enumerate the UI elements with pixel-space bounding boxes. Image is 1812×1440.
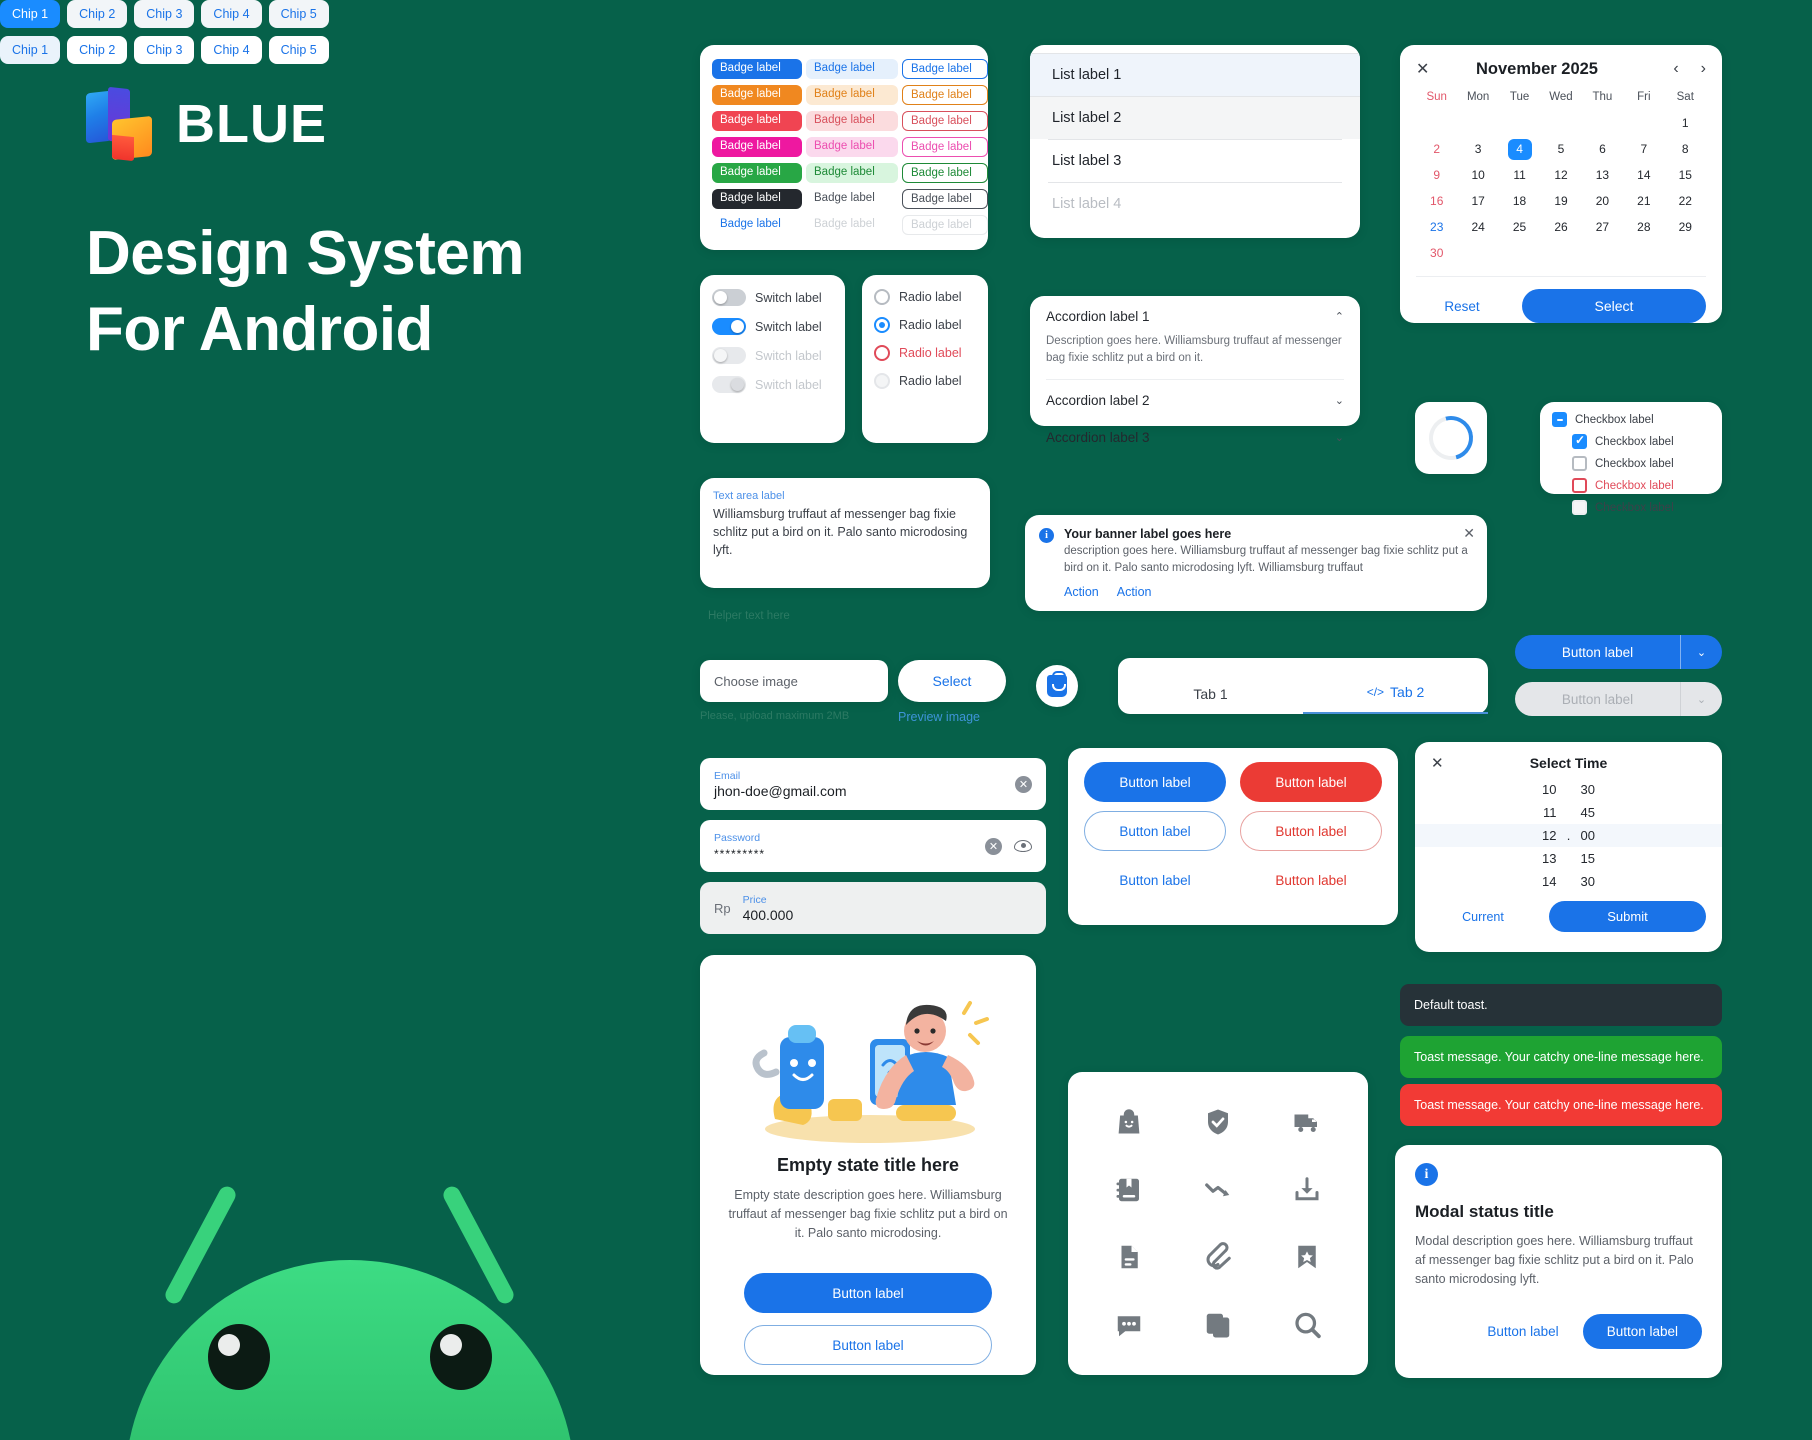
calendar-day[interactable]: 8	[1665, 139, 1706, 160]
accordion-label: Accordion label 3	[1046, 430, 1150, 445]
calendar-day[interactable]: 13	[1582, 165, 1623, 186]
close-icon[interactable]: ✕	[1431, 754, 1455, 772]
chip-row-1: Chip 1Chip 2Chip 3Chip 4Chip 5	[0, 0, 330, 28]
modal-primary-button[interactable]: Button label	[1583, 1314, 1702, 1349]
split-button-label[interactable]: Button label	[1515, 635, 1680, 669]
textarea-helper-text: Helper text here	[708, 610, 790, 622]
calendar-day[interactable]: 12	[1540, 165, 1581, 186]
banner-action-1[interactable]: Action	[1064, 585, 1099, 599]
calendar-select-button[interactable]: Select	[1522, 289, 1706, 323]
time-picker-title: Select Time	[1455, 755, 1682, 771]
calendar-day[interactable]: 23	[1416, 217, 1457, 238]
calendar-blank	[1582, 113, 1623, 134]
button-fill-blue[interactable]: Button label	[1084, 762, 1226, 802]
chip[interactable]: Chip 4	[201, 0, 261, 28]
calendar-day[interactable]: 7	[1623, 139, 1664, 160]
radio-label: Radio label	[899, 290, 962, 304]
time-separator: .	[1565, 828, 1573, 843]
switch-label: Switch label	[755, 291, 822, 305]
toast-success: Toast message. Your catchy one-line mess…	[1400, 1036, 1722, 1078]
calendar-day[interactable]: 19	[1540, 191, 1581, 212]
time-hour: 12	[1531, 828, 1557, 843]
chevron-down-icon[interactable]: ⌄	[1335, 394, 1344, 407]
checkbox-label: Checkbox label	[1595, 480, 1674, 492]
banner-description: description goes here. Williamsburg truf…	[1064, 543, 1473, 576]
close-icon[interactable]: ✕	[1463, 525, 1475, 542]
clear-icon[interactable]: ✕	[985, 838, 1002, 855]
calendar-title: November 2025	[1436, 60, 1638, 79]
password-label: Password	[714, 832, 977, 844]
calendar-header: ✕ November 2025 ‹ ›	[1416, 59, 1706, 79]
badge-outline: Badge label	[902, 59, 988, 79]
switch-toggle[interactable]	[712, 318, 746, 335]
tab-1[interactable]: Tab 1	[1118, 686, 1303, 714]
price-value: 400.000	[743, 907, 1032, 923]
icon-grid	[1084, 1088, 1352, 1359]
accordion-header[interactable]: Accordion label 3⌄	[1046, 417, 1344, 454]
calendar-day[interactable]: 14	[1623, 165, 1664, 186]
badge-tint: Badge label	[806, 215, 898, 235]
logo-wordmark: BLUE	[176, 93, 327, 155]
radio-label: Radio label	[899, 374, 962, 388]
paperclip-icon	[1196, 1235, 1240, 1279]
calendar-footer: Reset Select	[1416, 276, 1706, 323]
checkbox-row: Checkbox label	[1572, 500, 1710, 515]
switch-toggle	[712, 347, 746, 364]
time-picker-wheel[interactable]: 1030114512.0013151430	[1431, 778, 1706, 893]
empty-state-description: Empty state description goes here. Willi…	[720, 1186, 1016, 1243]
empty-secondary-button[interactable]: Button label	[744, 1325, 992, 1365]
calendar-day[interactable]: 25	[1499, 217, 1540, 238]
toast-message: Default toast.	[1414, 998, 1488, 1012]
checkbox-label: Checkbox label	[1595, 436, 1674, 448]
password-field[interactable]: Password ********* ✕	[700, 820, 1046, 872]
badge-solid: Badge label	[712, 137, 802, 157]
time-row[interactable]: 1030	[1431, 778, 1706, 801]
blue-logo-icon	[86, 88, 154, 160]
shield-check-icon	[1196, 1100, 1240, 1144]
time-current-button[interactable]: Current	[1431, 910, 1535, 924]
badge-solid: Badge label	[712, 215, 802, 235]
calendar-day[interactable]: 27	[1582, 217, 1623, 238]
modal-status-card: i Modal status title Modal description g…	[1395, 1145, 1722, 1378]
accordion-label: Accordion label 1	[1046, 309, 1150, 324]
switches-card: Switch labelSwitch labelSwitch labelSwit…	[700, 275, 845, 443]
chevron-right-icon[interactable]: ›	[1701, 60, 1706, 78]
tab-2[interactable]: </> Tab 2	[1303, 684, 1488, 714]
radio-row[interactable]: Radio label	[874, 345, 976, 361]
empty-state-illustration	[720, 979, 1016, 1149]
chevron-down-icon: ⌄	[1680, 682, 1722, 716]
file-picker-helper: Please, upload maximum 2MB	[700, 710, 849, 722]
file-select-button[interactable]: Select	[898, 660, 1006, 702]
list-item[interactable]: List label 1	[1030, 53, 1360, 96]
badge-solid: Badge label	[712, 111, 802, 131]
switch-label: Switch label	[755, 320, 822, 334]
switch-row[interactable]: Switch label	[712, 289, 833, 306]
checkbox-row[interactable]: Checkbox label	[1572, 478, 1710, 493]
calendar-day[interactable]: 24	[1457, 217, 1498, 238]
badge-tint: Badge label	[806, 189, 898, 209]
button-outline-red[interactable]: Button label	[1240, 811, 1382, 851]
spinner-icon	[1421, 408, 1481, 468]
toast-error: Toast message. Your catchy one-line mess…	[1400, 1084, 1722, 1126]
split-button-disabled: Button label ⌄	[1515, 682, 1722, 716]
checkbox-box	[1572, 500, 1587, 515]
accordion-label: Accordion label 2	[1046, 393, 1150, 408]
radio-row: Radio label	[874, 373, 976, 389]
calendar-day[interactable]: 6	[1582, 139, 1623, 160]
time-hour: 11	[1531, 805, 1557, 820]
switch-toggle	[712, 376, 746, 393]
checkbox-label: Checkbox label	[1575, 414, 1654, 426]
tabs-bar: Tab 1 </> Tab 2	[1118, 658, 1488, 714]
chip[interactable]: Chip 1	[0, 0, 60, 28]
chip[interactable]: Chip 3	[134, 0, 194, 28]
list-item: List label 4	[1048, 182, 1342, 225]
info-icon: i	[1039, 528, 1054, 543]
title-line-1: Design System	[86, 216, 524, 292]
delivery-truck-icon	[1285, 1100, 1329, 1144]
info-icon: i	[1415, 1163, 1438, 1186]
time-hour: 14	[1531, 874, 1557, 889]
button-fill-red[interactable]: Button label	[1240, 762, 1382, 802]
badges-card: Badge labelBadge labelBadge labelBadge l…	[700, 45, 988, 250]
shopping-bag-smile-icon	[1107, 1100, 1151, 1144]
close-icon[interactable]: ✕	[1416, 59, 1436, 79]
badge-tint: Badge label	[806, 59, 898, 79]
switch-label: Switch label	[755, 378, 822, 392]
design-system-poster: BLUE Design System For Android Badge lab…	[0, 0, 1812, 1440]
calendar-day[interactable]: 15	[1665, 165, 1706, 186]
choose-image-input[interactable]: Choose image	[700, 660, 888, 702]
checkbox-box[interactable]	[1552, 412, 1567, 427]
tab-1-label: Tab 1	[1193, 686, 1227, 702]
calendar-day[interactable]: 29	[1665, 217, 1706, 238]
book-bookmark-icon	[1107, 1168, 1151, 1212]
banner-title: Your banner label goes here	[1064, 527, 1473, 541]
empty-state-card: Empty state title here Empty state descr…	[700, 955, 1036, 1375]
chip[interactable]: Chip 1	[0, 36, 60, 64]
accordion-header[interactable]: Accordion label 1⌃	[1046, 296, 1344, 333]
radio-button[interactable]	[874, 289, 890, 305]
split-button-primary[interactable]: Button label ⌄	[1515, 635, 1722, 669]
radio-button[interactable]	[874, 317, 890, 333]
switch-label: Switch label	[755, 349, 822, 363]
checkbox-row[interactable]: Checkbox label	[1552, 412, 1710, 427]
accordion-header[interactable]: Accordion label 2⌄	[1046, 380, 1344, 417]
time-submit-button[interactable]: Submit	[1549, 901, 1706, 932]
chip[interactable]: Chip 5	[269, 36, 329, 64]
search-icon	[1285, 1303, 1329, 1347]
accordion-description: Description goes here. Williamsburg truf…	[1046, 333, 1344, 380]
calendar-blank	[1416, 113, 1457, 134]
page-title: Design System For Android	[86, 216, 524, 367]
calendar-day[interactable]: 20	[1582, 191, 1623, 212]
badge-tint: Badge label	[806, 111, 898, 131]
calendar-dow: Mon	[1457, 91, 1498, 108]
price-field[interactable]: Rp Price 400.000	[700, 882, 1046, 934]
code-icon: </>	[1367, 685, 1384, 699]
radio-label: Radio label	[899, 346, 962, 360]
eye-icon[interactable]	[1014, 840, 1032, 852]
radio-button	[874, 373, 890, 389]
accordion-card: Accordion label 1⌃Description goes here.…	[1030, 296, 1360, 426]
checkbox-row[interactable]: Checkbox label	[1572, 434, 1710, 449]
logo-row: BLUE	[86, 88, 524, 160]
badge-outline: Badge label	[902, 85, 988, 105]
badge-outline: Badge label	[902, 137, 988, 157]
android-mascot-illustration	[80, 1140, 620, 1440]
radio-row[interactable]: Radio label	[874, 289, 976, 305]
textarea-field[interactable]: Text area label Williamsburg truffaut af…	[700, 478, 990, 588]
calendar-reset-button[interactable]: Reset	[1416, 299, 1508, 314]
empty-state-title: Empty state title here	[720, 1155, 1016, 1176]
price-prefix: Rp	[714, 901, 731, 916]
badge-tint: Badge label	[806, 85, 898, 105]
radio-button[interactable]	[874, 345, 890, 361]
buttons-card: Button labelButton labelButton labelButt…	[1068, 748, 1398, 925]
calendar-day[interactable]: 16	[1416, 191, 1457, 212]
badge-tint: Badge label	[806, 163, 898, 183]
calendar-day[interactable]: 2	[1416, 139, 1457, 160]
trend-down-arrow-icon	[1196, 1168, 1240, 1212]
calendar-day[interactable]: 18	[1499, 191, 1540, 212]
copy-icon	[1196, 1303, 1240, 1347]
banner-card: i Your banner label goes here descriptio…	[1025, 515, 1487, 611]
calendar-day[interactable]: 21	[1623, 191, 1664, 212]
bookmark-star-icon	[1285, 1235, 1329, 1279]
calendar-day[interactable]: 30	[1416, 243, 1457, 264]
calendar-blank	[1499, 113, 1540, 134]
badge-outline: Badge label	[902, 163, 988, 183]
preview-image-link[interactable]: Preview image	[898, 710, 980, 724]
switch-row: Switch label	[712, 376, 833, 393]
price-label: Price	[743, 894, 1032, 906]
list-card: List label 1List label 2List label 3List…	[1030, 45, 1360, 238]
brand-block: BLUE Design System For Android	[86, 88, 524, 367]
time-minute: 45	[1581, 805, 1607, 820]
calendar-day[interactable]: 9	[1416, 165, 1457, 186]
choose-image-placeholder: Choose image	[714, 674, 798, 689]
time-minute: 15	[1581, 851, 1607, 866]
checkbox-label: Checkbox label	[1595, 458, 1674, 470]
toast-message: Toast message. Your catchy one-line mess…	[1414, 1098, 1704, 1112]
calendar-day[interactable]: 1	[1665, 113, 1706, 134]
switch-row: Switch label	[712, 347, 833, 364]
chip[interactable]: Chip 4	[201, 36, 261, 64]
modal-description: Modal description goes here. Williamsbur…	[1415, 1232, 1702, 1288]
checkboxes-card: Checkbox labelCheckbox labelCheckbox lab…	[1540, 402, 1722, 494]
document-text-icon	[1107, 1235, 1151, 1279]
chip-row-2: Chip 1Chip 2Chip 3Chip 4Chip 5	[0, 36, 330, 64]
email-label: Email	[714, 770, 1007, 782]
badge-solid: Badge label	[712, 85, 802, 105]
calendar-dow: Tue	[1499, 91, 1540, 108]
calendar-blank	[1540, 113, 1581, 134]
checkbox-box[interactable]	[1572, 478, 1587, 493]
clear-icon[interactable]: ✕	[1015, 776, 1032, 793]
chevron-down-icon[interactable]: ⌄	[1680, 635, 1722, 669]
chip[interactable]: Chip 5	[269, 0, 329, 28]
time-hour: 13	[1531, 851, 1557, 866]
shopping-bag-icon[interactable]	[1036, 665, 1078, 707]
email-field[interactable]: Email jhon-doe@gmail.com ✕	[700, 758, 1046, 810]
radios-card: Radio labelRadio labelRadio labelRadio l…	[862, 275, 988, 443]
calendar-dow: Wed	[1540, 91, 1581, 108]
button-outline-blue[interactable]: Button label	[1084, 811, 1226, 851]
button-grid: Button labelButton labelButton labelButt…	[1084, 762, 1382, 900]
badge-outline: Badge label	[902, 215, 988, 235]
time-minute: 30	[1581, 874, 1607, 889]
badge-solid: Badge label	[712, 189, 802, 209]
tab-2-label: Tab 2	[1390, 684, 1424, 700]
chip[interactable]: Chip 2	[67, 0, 127, 28]
toast-default: Default toast.	[1400, 984, 1722, 1026]
checkbox-label: Checkbox label	[1595, 502, 1674, 514]
chip[interactable]: Chip 2	[67, 36, 127, 64]
calendar-dow: Thu	[1582, 91, 1623, 108]
download-icon	[1285, 1168, 1329, 1212]
chevron-left-icon[interactable]: ‹	[1673, 60, 1678, 78]
icon-library-card	[1068, 1072, 1368, 1375]
calendar-dow: Fri	[1623, 91, 1664, 108]
date-picker-card: ✕ November 2025 ‹ › SunMonTueWedThuFriSa…	[1400, 45, 1722, 323]
checkbox-row[interactable]: Checkbox label	[1572, 456, 1710, 471]
list-item[interactable]: List label 2	[1030, 96, 1360, 139]
chip[interactable]: Chip 3	[134, 36, 194, 64]
chat-dots-icon	[1107, 1303, 1151, 1347]
calendar-day[interactable]: 5	[1540, 139, 1581, 160]
calendar-blank	[1623, 113, 1664, 134]
calendar-day[interactable]: 3	[1457, 139, 1498, 160]
badge-solid: Badge label	[712, 59, 802, 79]
calendar-blank	[1457, 113, 1498, 134]
badge-outline: Badge label	[902, 111, 988, 131]
time-minute: 30	[1581, 782, 1607, 797]
badge-solid: Badge label	[712, 163, 802, 183]
switch-toggle[interactable]	[712, 289, 746, 306]
calendar-day[interactable]: 11	[1499, 165, 1540, 186]
modal-secondary-button[interactable]: Button label	[1473, 1315, 1572, 1348]
calendar-day[interactable]: 26	[1540, 217, 1581, 238]
calendar-day[interactable]: 10	[1457, 165, 1498, 186]
time-row[interactable]: 1315	[1431, 847, 1706, 870]
badge-grid: Badge labelBadge labelBadge labelBadge l…	[712, 59, 976, 235]
textarea-label: Text area label	[713, 490, 977, 502]
time-row[interactable]: 1145	[1431, 801, 1706, 824]
calendar-dow: Sun	[1416, 91, 1457, 108]
banner-action-2[interactable]: Action	[1117, 585, 1152, 599]
checkbox-box[interactable]	[1572, 456, 1587, 471]
badge-tint: Badge label	[806, 137, 898, 157]
toast-message: Toast message. Your catchy one-line mess…	[1414, 1050, 1704, 1064]
calendar-grid: SunMonTueWedThuFriSat1234567891011121314…	[1416, 91, 1706, 264]
button-text-blue[interactable]: Button label	[1084, 860, 1226, 900]
chevron-up-icon[interactable]: ⌃	[1335, 310, 1344, 323]
switch-row[interactable]: Switch label	[712, 318, 833, 335]
calendar-day[interactable]: 28	[1623, 217, 1664, 238]
calendar-dow: Sat	[1665, 91, 1706, 108]
time-row[interactable]: 12.00	[1415, 824, 1722, 847]
calendar-day[interactable]: 4	[1508, 139, 1532, 160]
badge-outline: Badge label	[902, 189, 988, 209]
password-value: *********	[714, 847, 977, 861]
loading-spinner-card	[1415, 402, 1487, 474]
checkbox-box[interactable]	[1572, 434, 1587, 449]
time-picker-card: ✕ Select Time 1030114512.0013151430 Curr…	[1415, 742, 1722, 952]
radio-label: Radio label	[899, 318, 962, 332]
calendar-day[interactable]: 22	[1665, 191, 1706, 212]
split-button-label: Button label	[1515, 682, 1680, 716]
time-minute: 00	[1581, 828, 1607, 843]
title-line-2: For Android	[86, 292, 524, 368]
button-text-red[interactable]: Button label	[1240, 860, 1382, 900]
calendar-day[interactable]: 17	[1457, 191, 1498, 212]
chips-group: Chip 1Chip 2Chip 3Chip 4Chip 5 Chip 1Chi…	[0, 0, 330, 82]
radio-row[interactable]: Radio label	[874, 317, 976, 333]
empty-primary-button[interactable]: Button label	[744, 1273, 992, 1313]
list-item[interactable]: List label 3	[1048, 139, 1342, 182]
time-hour: 10	[1531, 782, 1557, 797]
modal-title: Modal status title	[1415, 1202, 1702, 1222]
email-value: jhon-doe@gmail.com	[714, 783, 1007, 799]
chevron-down-icon[interactable]: ⌄	[1335, 431, 1344, 444]
textarea-value: Williamsburg truffaut af messenger bag f…	[713, 505, 977, 559]
time-row[interactable]: 1430	[1431, 870, 1706, 893]
